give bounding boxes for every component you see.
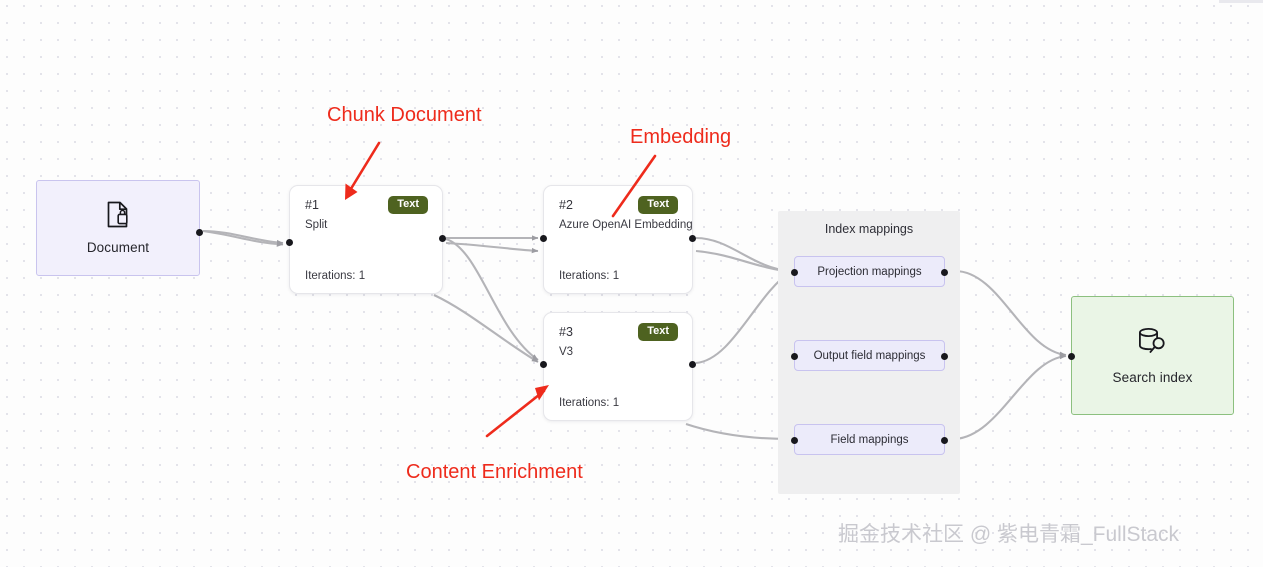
node-document-label: Document — [87, 240, 149, 255]
skillset-graph-canvas[interactable]: Document #1 Text Split Iterations: 1 #2 … — [0, 0, 1263, 567]
mapping-projection-mappings[interactable]: Projection mappings — [794, 256, 945, 287]
mapping-field-mappings[interactable]: Field mappings — [794, 424, 945, 455]
port-field-mappings-out[interactable] — [941, 437, 948, 444]
port-search-index-in[interactable] — [1068, 353, 1075, 360]
mapping-field-mappings-label: Field mappings — [831, 434, 909, 446]
node-search-index[interactable]: Search index — [1071, 296, 1234, 415]
node-document[interactable]: Document — [36, 180, 200, 276]
port-skill-1-in[interactable] — [286, 239, 293, 246]
node-skill-2[interactable]: #2 Text Azure OpenAI Embedding Iteration… — [543, 185, 693, 294]
skill-2-name: Azure OpenAI Embedding — [559, 219, 678, 231]
arrow-content-enrichment — [487, 385, 549, 436]
mapping-projection-mappings-label: Projection mappings — [817, 266, 921, 278]
port-skill-1-out[interactable] — [439, 235, 446, 242]
watermark: 掘金技术社区 @ 紫电青霜_FullStack — [838, 518, 1179, 548]
annotation-chunk-document: Chunk Document — [327, 104, 482, 127]
port-projection-out[interactable] — [941, 269, 948, 276]
skill-1-number: #1 — [305, 198, 319, 212]
skill-3-name: V3 — [559, 346, 678, 358]
skill-3-iterations: Iterations: 1 — [559, 397, 619, 409]
database-search-icon — [1136, 326, 1170, 358]
skill-3-type-badge: Text — [638, 323, 678, 341]
node-skill-3[interactable]: #3 Text V3 Iterations: 1 — [543, 312, 693, 421]
skill-2-type-badge: Text — [638, 196, 678, 214]
port-skill-2-in[interactable] — [540, 235, 547, 242]
skill-2-iterations: Iterations: 1 — [559, 270, 619, 282]
mapping-output-field-mappings[interactable]: Output field mappings — [794, 340, 945, 371]
skill-3-number: #3 — [559, 325, 573, 339]
port-output-field-in[interactable] — [791, 353, 798, 360]
skill-2-header: #2 Text — [559, 198, 678, 214]
port-skill-3-in[interactable] — [540, 361, 547, 368]
skill-1-header: #1 Text — [305, 198, 428, 214]
mapping-output-field-mappings-label: Output field mappings — [814, 350, 926, 362]
port-field-mappings-in[interactable] — [791, 437, 798, 444]
group-index-mappings[interactable]: Index mappings Projection mappings Outpu… — [778, 211, 960, 494]
top-edge-artifact — [1219, 0, 1263, 3]
port-output-field-out[interactable] — [941, 353, 948, 360]
skill-2-number: #2 — [559, 198, 573, 212]
node-skill-1[interactable]: #1 Text Split Iterations: 1 — [289, 185, 443, 294]
document-lock-icon — [106, 201, 131, 228]
skill-1-name: Split — [305, 219, 428, 231]
annotation-embedding: Embedding — [630, 126, 731, 149]
port-projection-in[interactable] — [791, 269, 798, 276]
port-skill-3-out[interactable] — [689, 361, 696, 368]
port-skill-2-out[interactable] — [689, 235, 696, 242]
skill-1-iterations: Iterations: 1 — [305, 270, 365, 282]
index-mappings-title: Index mappings — [778, 222, 960, 236]
port-document-out[interactable] — [196, 229, 203, 236]
annotation-content-enrichment: Content Enrichment — [406, 461, 583, 484]
skill-3-header: #3 Text — [559, 325, 678, 341]
skill-1-type-badge: Text — [388, 196, 428, 214]
node-search-index-label: Search index — [1113, 370, 1193, 385]
